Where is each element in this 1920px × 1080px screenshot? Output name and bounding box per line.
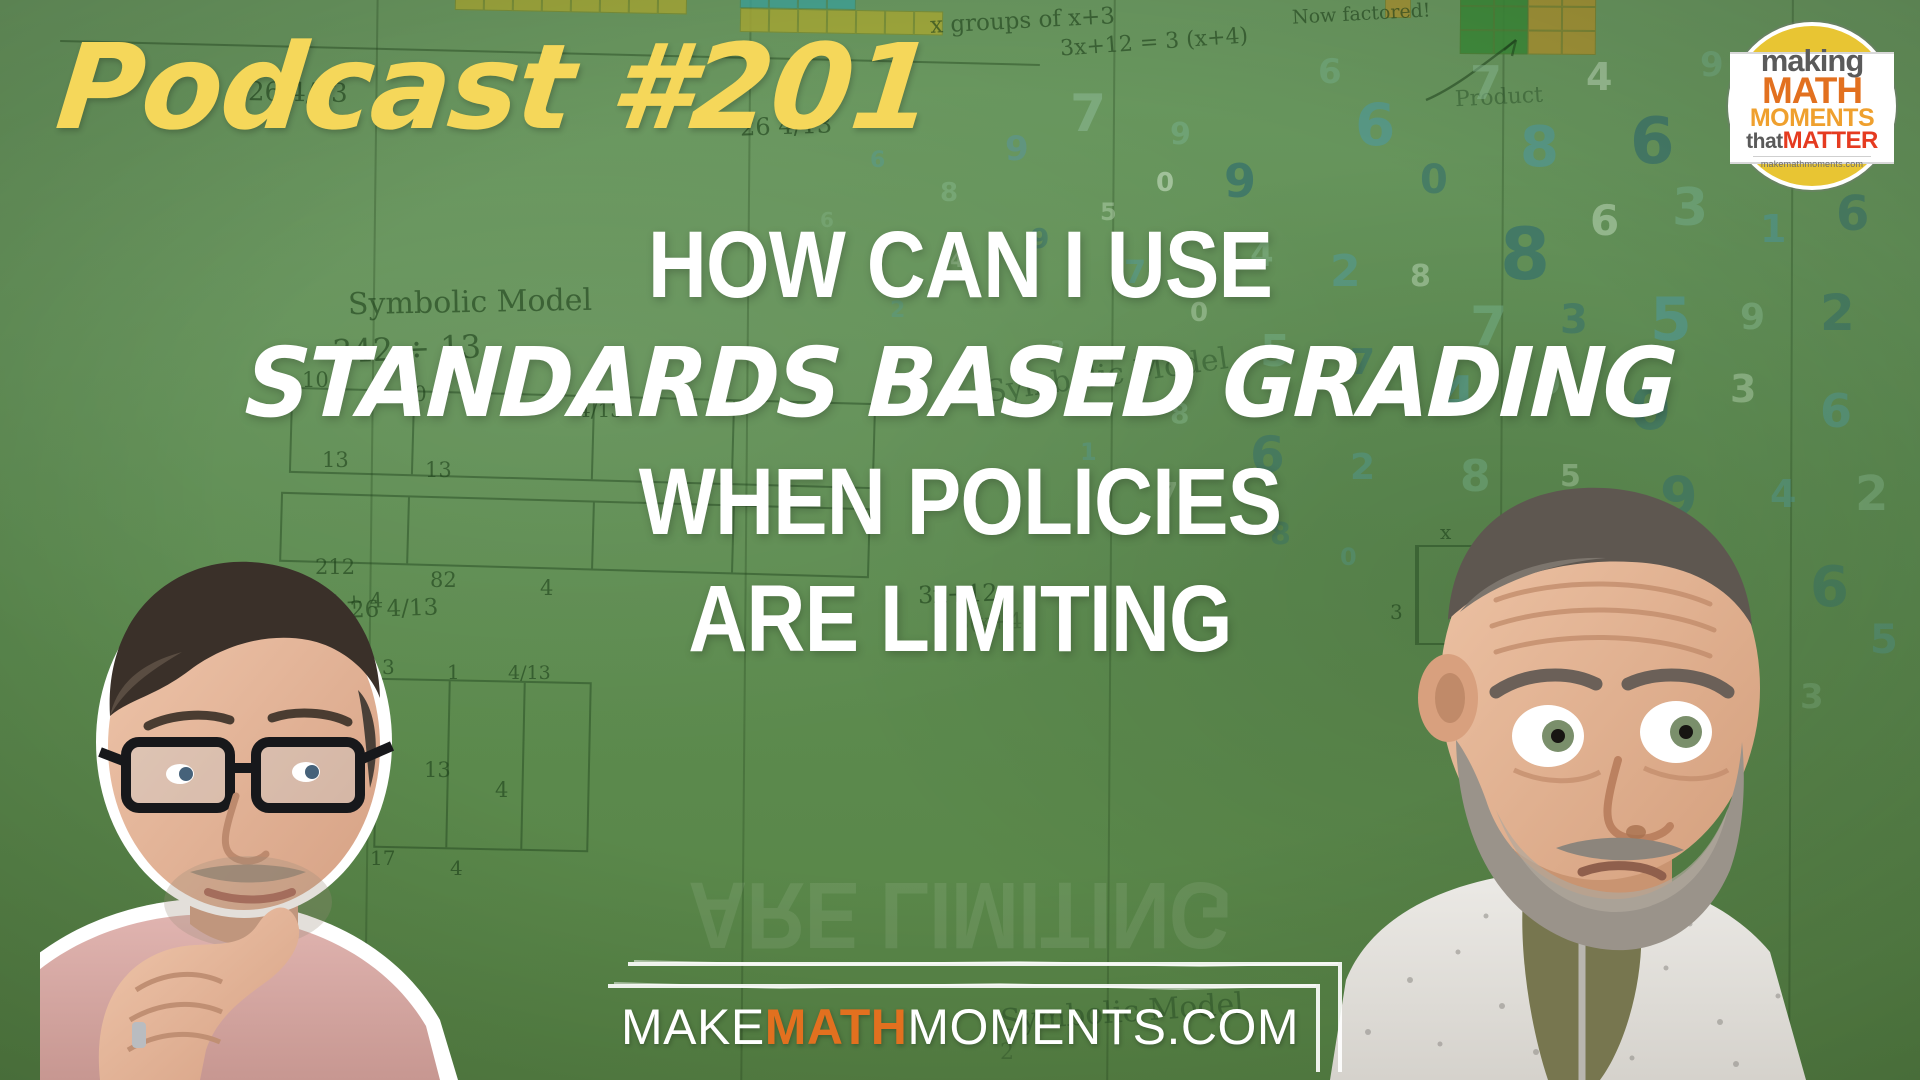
logo-word-matter: MATTER: [1783, 130, 1878, 153]
podcast-cover-image: 26 4/13 26 4/13 x groups of x+3 3x+12 = …: [0, 0, 1920, 1080]
logo-white-band: making MATH MOMENTS that MATTER makemath…: [1730, 52, 1894, 164]
url-decorative-frame: [600, 942, 1360, 1072]
brand-logo[interactable]: making MATH MOMENTS that MATTER makemath…: [1728, 22, 1896, 190]
logo-word-that: that: [1746, 132, 1783, 152]
logo-word-math: MATH: [1762, 75, 1862, 107]
podcast-number-title: Podcast #201: [51, 18, 939, 156]
host-left-photo: [40, 520, 600, 1080]
host-right-photo: [1300, 440, 1900, 1080]
logo-that-matter-row: that MATTER: [1746, 130, 1878, 153]
logo-url-text: makemathmoments.com: [1753, 156, 1871, 169]
